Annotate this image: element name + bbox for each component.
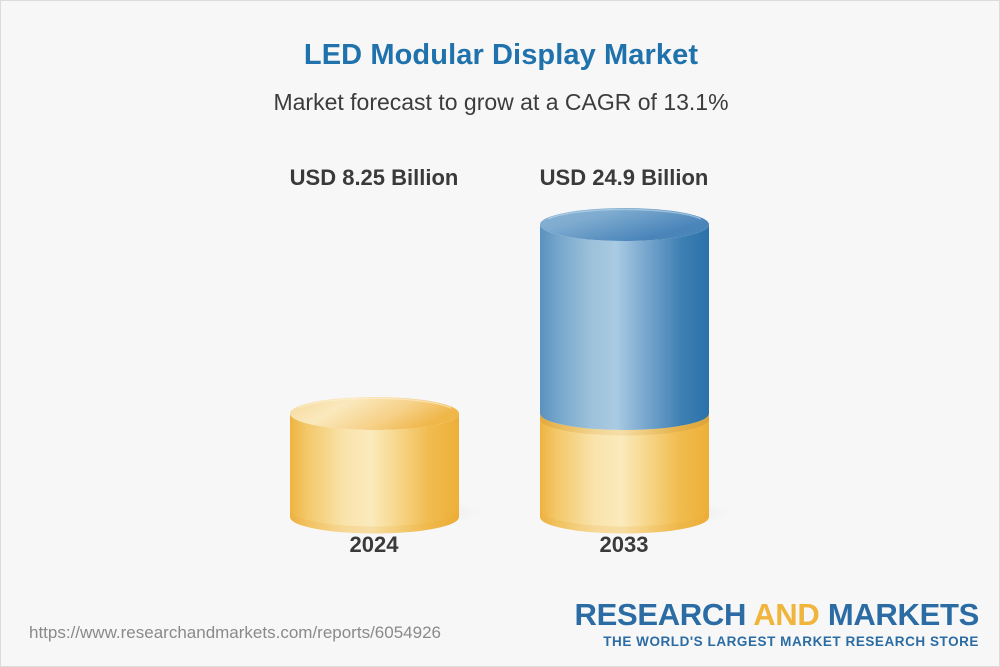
- report-url[interactable]: https://www.researchandmarkets.com/repor…: [29, 623, 441, 643]
- logo-tagline: THE WORLD'S LARGEST MARKET RESEARCH STOR…: [574, 635, 979, 649]
- brand-logo[interactable]: RESEARCH AND MARKETS THE WORLD'S LARGEST…: [574, 599, 979, 649]
- category-label-2024: 2024: [274, 532, 474, 558]
- chart-canvas: LED Modular Display Market Market foreca…: [0, 0, 1000, 667]
- logo-wordmark: RESEARCH AND MARKETS: [574, 599, 979, 630]
- category-label-2033: 2033: [524, 532, 724, 558]
- bar-cylinder-2024[interactable]: [290, 397, 459, 534]
- logo-and-text: AND: [746, 597, 828, 632]
- bar-cylinder-2033[interactable]: [540, 208, 709, 534]
- chart-cylinders: [1, 1, 1000, 667]
- logo-research-text: RESEARCH: [574, 597, 746, 632]
- logo-markets-text: MARKETS: [828, 597, 979, 632]
